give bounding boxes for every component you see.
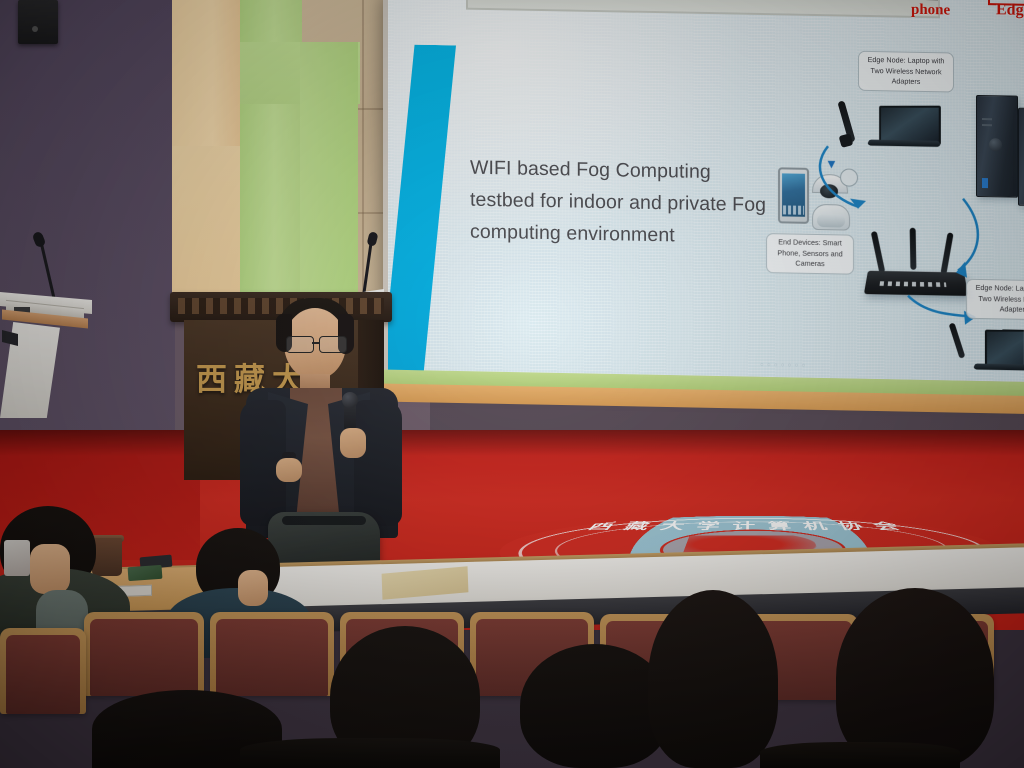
diagram-arrows — [388, 0, 1024, 382]
slide-watermark-icons: ◦◦◦◦◦◦◦ — [760, 359, 808, 372]
stage-shadow — [0, 430, 1024, 456]
table-phone-green — [128, 565, 163, 581]
audience-hand-phone — [30, 544, 70, 594]
presenter-left-hand — [276, 458, 302, 482]
audience-head-front — [648, 590, 778, 768]
audience-head-front — [836, 588, 994, 768]
audience-seat — [0, 628, 86, 714]
audience-shoulders-front — [240, 738, 500, 768]
laptop-icon-bottom — [974, 329, 1024, 374]
projection-screen: Smart phone Edge server WIFI based Fog C… — [388, 0, 1024, 382]
audience-phone — [4, 540, 30, 576]
audience-seat — [84, 612, 204, 696]
audience-seat — [210, 612, 334, 696]
presenter-right-hand — [340, 428, 366, 458]
ceiling-speaker — [18, 0, 58, 44]
callout-edge-node-laptop-right: Edge Node: Laptop with Two Wireless Netw… — [966, 279, 1024, 320]
presentation-photo: Smart phone Edge server WIFI based Fog C… — [0, 0, 1024, 768]
audience-hand — [238, 570, 268, 606]
eyeglasses — [286, 336, 346, 351]
coffee-cup — [92, 538, 122, 576]
side-lectern — [0, 296, 92, 416]
wall-column-green-right — [300, 42, 358, 310]
speaker-grille-dot — [32, 26, 38, 32]
audience-shoulders-front — [760, 742, 960, 768]
